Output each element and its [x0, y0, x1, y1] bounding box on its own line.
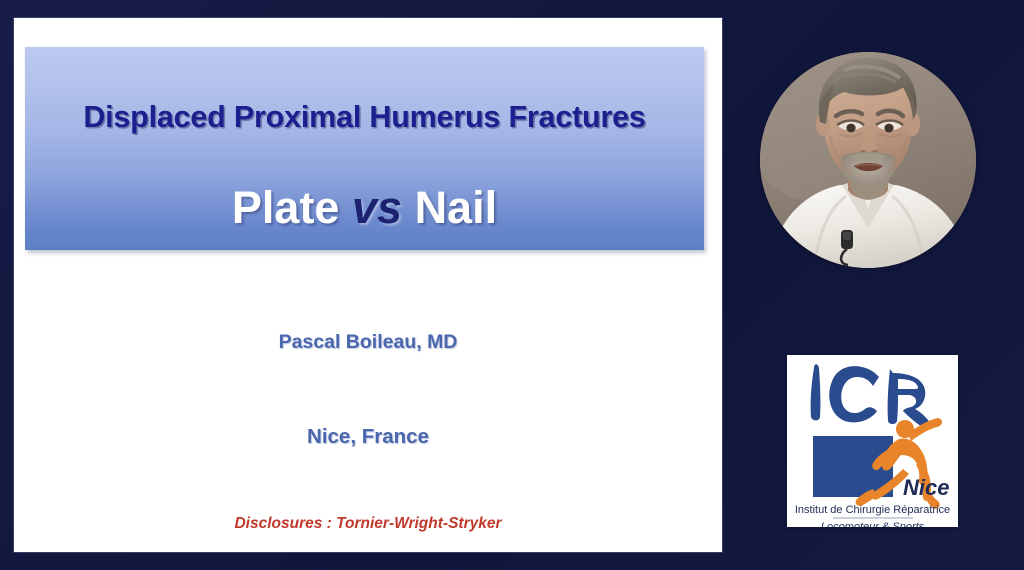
presentation-stage: Displaced Proximal Humerus Fractures Pla… — [0, 0, 1024, 570]
presenter-video-avatar[interactable] — [760, 52, 976, 268]
icr-logo-graphic: Nice Institut de Chirurgie Réparatrice L… — [787, 355, 958, 527]
title-banner: Displaced Proximal Humerus Fractures Pla… — [25, 47, 704, 250]
logo-nice-text: Nice — [903, 475, 949, 500]
disclosures-text: Disclosures : Tornier-Wright-Stryker — [14, 515, 722, 533]
subtitle-vs: vs — [352, 182, 402, 233]
author-name: Pascal Boileau, MD — [14, 331, 722, 354]
subtitle-nail: Nail — [415, 182, 498, 233]
logo-tagline-2: Locomoteur & Sports — [821, 521, 925, 527]
slide-title: Displaced Proximal Humerus Fractures — [25, 100, 704, 135]
logo-tagline-1: Institut de Chirurgie Réparatrice — [795, 504, 950, 516]
slide-canvas: Displaced Proximal Humerus Fractures Pla… — [14, 18, 722, 552]
subtitle-plate: Plate — [232, 182, 340, 233]
author-location: Nice, France — [14, 425, 722, 449]
presenter-portrait-image — [760, 52, 976, 268]
icr-logo: Nice Institut de Chirurgie Réparatrice L… — [787, 355, 958, 527]
slide-subtitle: Plate vs Nail — [25, 185, 704, 230]
